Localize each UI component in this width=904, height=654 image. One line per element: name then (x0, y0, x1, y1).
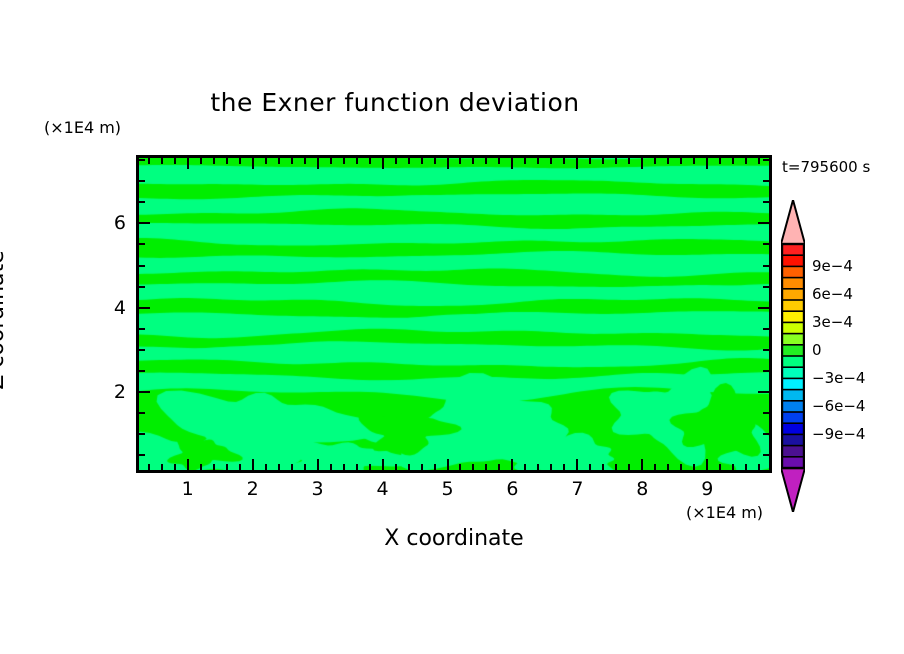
y-tick-minor (139, 370, 145, 372)
x-tick-minor (304, 464, 306, 470)
x-tick-minor (408, 464, 410, 470)
colorbar-under-arrow (781, 468, 805, 512)
y-tick-minor-right (763, 412, 769, 414)
y-tick-minor (139, 243, 145, 245)
y-tick-minor-right (763, 328, 769, 330)
x-tick-minor (226, 464, 228, 470)
y-tick-minor-right (763, 454, 769, 456)
x-tick-minor (693, 464, 695, 470)
x-tick-minor-top (330, 158, 332, 164)
x-tick-minor (291, 464, 293, 470)
x-tick-minor-top (485, 158, 487, 164)
y-tick-minor-right (763, 286, 769, 288)
x-tick-minor (589, 464, 591, 470)
colorbar-band (781, 300, 805, 312)
x-tick-minor-top (161, 158, 163, 164)
colorbar-band (781, 412, 805, 424)
y-tick-minor (139, 265, 145, 267)
y-axis-unit-label: (×1E4 m) (44, 118, 121, 137)
y-tick-minor (139, 328, 145, 330)
colorbar-over-arrow (781, 200, 805, 244)
x-tick-minor-top (628, 158, 630, 164)
y-tick-minor (139, 180, 145, 182)
colorbar-band (781, 278, 805, 290)
y-tick-major-right (758, 391, 769, 393)
page-title: the Exner function deviation (0, 88, 790, 117)
x-tick-minor-top (550, 158, 552, 164)
x-tick-minor-top (563, 158, 565, 164)
x-tick-minor-top (719, 158, 721, 164)
x-tick-major (706, 459, 708, 470)
x-tick-major (317, 459, 319, 470)
x-tick-minor (330, 464, 332, 470)
x-tick-minor (278, 464, 280, 470)
colorbar-band (781, 266, 805, 278)
colorbar-band (781, 367, 805, 379)
y-tick-minor-right (763, 201, 769, 203)
x-tick-major (641, 459, 643, 470)
y-tick-major-right (758, 222, 769, 224)
y-axis-title: Z coordinate (0, 220, 9, 420)
x-tick-minor (395, 464, 397, 470)
x-tick-minor-top (615, 158, 617, 164)
colorbar-tick-label: 0 (812, 341, 822, 359)
y-tick-minor-right (763, 349, 769, 351)
x-tick-minor (434, 464, 436, 470)
figure-canvas: the Exner function deviation (×1E4 m) (×… (0, 0, 904, 654)
x-tick-minor-top (758, 158, 760, 164)
x-tick-label: 3 (312, 478, 324, 500)
y-tick-minor (139, 286, 145, 288)
y-tick-label: 6 (98, 212, 126, 234)
colorbar-swatches (781, 200, 805, 512)
x-tick-minor (174, 464, 176, 470)
x-tick-minor (602, 464, 604, 470)
colorbar-band (781, 356, 805, 368)
colorbar-tick-label: 9e−4 (812, 257, 853, 275)
x-tick-major (447, 459, 449, 470)
x-tick-minor-top (356, 158, 358, 164)
y-tick-minor-right (763, 159, 769, 161)
x-tick-label: 7 (571, 478, 583, 500)
x-tick-minor (537, 464, 539, 470)
x-tick-major-top (317, 158, 319, 169)
y-tick-major (139, 307, 150, 309)
y-tick-major (139, 222, 150, 224)
x-tick-minor (239, 464, 241, 470)
x-tick-minor (719, 464, 721, 470)
contour-field (139, 158, 769, 470)
colorbar-band (781, 311, 805, 323)
x-tick-minor (161, 464, 163, 470)
x-tick-label: 9 (701, 478, 713, 500)
x-tick-major-top (511, 158, 513, 169)
x-tick-minor-top (421, 158, 423, 164)
x-tick-minor-top (174, 158, 176, 164)
y-tick-major-right (758, 307, 769, 309)
x-tick-minor (213, 464, 215, 470)
y-tick-label: 2 (98, 381, 126, 403)
x-tick-minor (563, 464, 565, 470)
colorbar-band (781, 255, 805, 267)
x-tick-major-top (641, 158, 643, 169)
y-tick-minor (139, 201, 145, 203)
x-tick-minor (667, 464, 669, 470)
colorbar-band (781, 446, 805, 458)
x-tick-minor (654, 464, 656, 470)
x-tick-minor (459, 464, 461, 470)
x-tick-major-top (576, 158, 578, 169)
x-tick-minor-top (498, 158, 500, 164)
x-tick-minor (732, 464, 734, 470)
x-tick-minor (524, 464, 526, 470)
contour-plot-area (136, 155, 772, 473)
colorbar-band (781, 244, 805, 256)
x-tick-minor (343, 464, 345, 470)
x-tick-minor-top (537, 158, 539, 164)
x-tick-minor (485, 464, 487, 470)
colorbar-band (781, 378, 805, 390)
x-tick-major (511, 459, 513, 470)
x-tick-minor (550, 464, 552, 470)
x-tick-minor-top (524, 158, 526, 164)
x-tick-minor-top (472, 158, 474, 164)
y-tick-major (139, 391, 150, 393)
x-tick-label: 5 (441, 478, 453, 500)
time-annotation: t=795600 s (782, 158, 870, 176)
colorbar-band (781, 423, 805, 435)
y-tick-label: 4 (98, 297, 126, 319)
x-tick-major-top (187, 158, 189, 169)
x-tick-minor-top (680, 158, 682, 164)
colorbar-band (781, 434, 805, 446)
x-tick-minor-top (408, 158, 410, 164)
x-tick-minor-top (278, 158, 280, 164)
x-tick-minor (421, 464, 423, 470)
colorbar-tick-label: 3e−4 (812, 313, 853, 331)
x-tick-minor (265, 464, 267, 470)
colorbar-tick-label: 6e−4 (812, 285, 853, 303)
x-tick-minor-top (693, 158, 695, 164)
y-tick-minor-right (763, 265, 769, 267)
x-tick-minor-top (434, 158, 436, 164)
x-tick-minor-top (732, 158, 734, 164)
colorbar[interactable] (781, 200, 805, 512)
x-tick-label: 6 (506, 478, 518, 500)
x-tick-major (576, 459, 578, 470)
x-tick-major (252, 459, 254, 470)
x-tick-minor-top (745, 158, 747, 164)
y-tick-minor-right (763, 243, 769, 245)
x-tick-label: 8 (636, 478, 648, 500)
x-tick-minor (369, 464, 371, 470)
x-axis-title: X coordinate (136, 526, 772, 551)
colorbar-band (781, 334, 805, 346)
x-tick-minor-top (589, 158, 591, 164)
y-tick-minor (139, 412, 145, 414)
x-tick-label: 2 (247, 478, 259, 500)
x-tick-minor-top (602, 158, 604, 164)
x-tick-minor (498, 464, 500, 470)
x-tick-minor (628, 464, 630, 470)
x-axis-unit-label: (×1E4 m) (686, 503, 763, 522)
x-tick-minor-top (265, 158, 267, 164)
y-tick-minor-right (763, 180, 769, 182)
y-tick-minor (139, 433, 145, 435)
y-tick-minor (139, 159, 145, 161)
x-tick-minor (680, 464, 682, 470)
x-tick-major (382, 459, 384, 470)
x-tick-major-top (382, 158, 384, 169)
colorbar-band (781, 322, 805, 334)
x-tick-label: 4 (377, 478, 389, 500)
x-tick-minor (758, 464, 760, 470)
x-tick-minor (148, 464, 150, 470)
colorbar-tick-label: −6e−4 (812, 397, 865, 415)
x-tick-minor (745, 464, 747, 470)
x-tick-minor-top (369, 158, 371, 164)
x-tick-label: 1 (182, 478, 194, 500)
x-tick-minor (472, 464, 474, 470)
x-tick-minor-top (291, 158, 293, 164)
colorbar-band (781, 401, 805, 413)
x-tick-minor-top (148, 158, 150, 164)
x-tick-major-top (252, 158, 254, 169)
x-tick-minor-top (239, 158, 241, 164)
colorbar-band (781, 457, 805, 469)
x-tick-minor-top (226, 158, 228, 164)
y-tick-minor-right (763, 433, 769, 435)
colorbar-band (781, 289, 805, 301)
x-tick-minor (200, 464, 202, 470)
x-tick-major-top (706, 158, 708, 169)
colorbar-tick-label: −3e−4 (812, 369, 865, 387)
x-tick-minor-top (395, 158, 397, 164)
colorbar-band (781, 345, 805, 357)
x-tick-minor (615, 464, 617, 470)
y-tick-minor (139, 349, 145, 351)
x-tick-minor-top (200, 158, 202, 164)
colorbar-tick-label: −9e−4 (812, 425, 865, 443)
x-tick-major (187, 459, 189, 470)
x-tick-major-top (447, 158, 449, 169)
x-tick-minor-top (304, 158, 306, 164)
y-tick-minor-right (763, 370, 769, 372)
y-tick-minor (139, 454, 145, 456)
x-tick-minor-top (654, 158, 656, 164)
x-tick-minor-top (459, 158, 461, 164)
colorbar-band (781, 390, 805, 402)
x-tick-minor-top (667, 158, 669, 164)
x-tick-minor-top (343, 158, 345, 164)
x-tick-minor-top (213, 158, 215, 164)
x-tick-minor (356, 464, 358, 470)
